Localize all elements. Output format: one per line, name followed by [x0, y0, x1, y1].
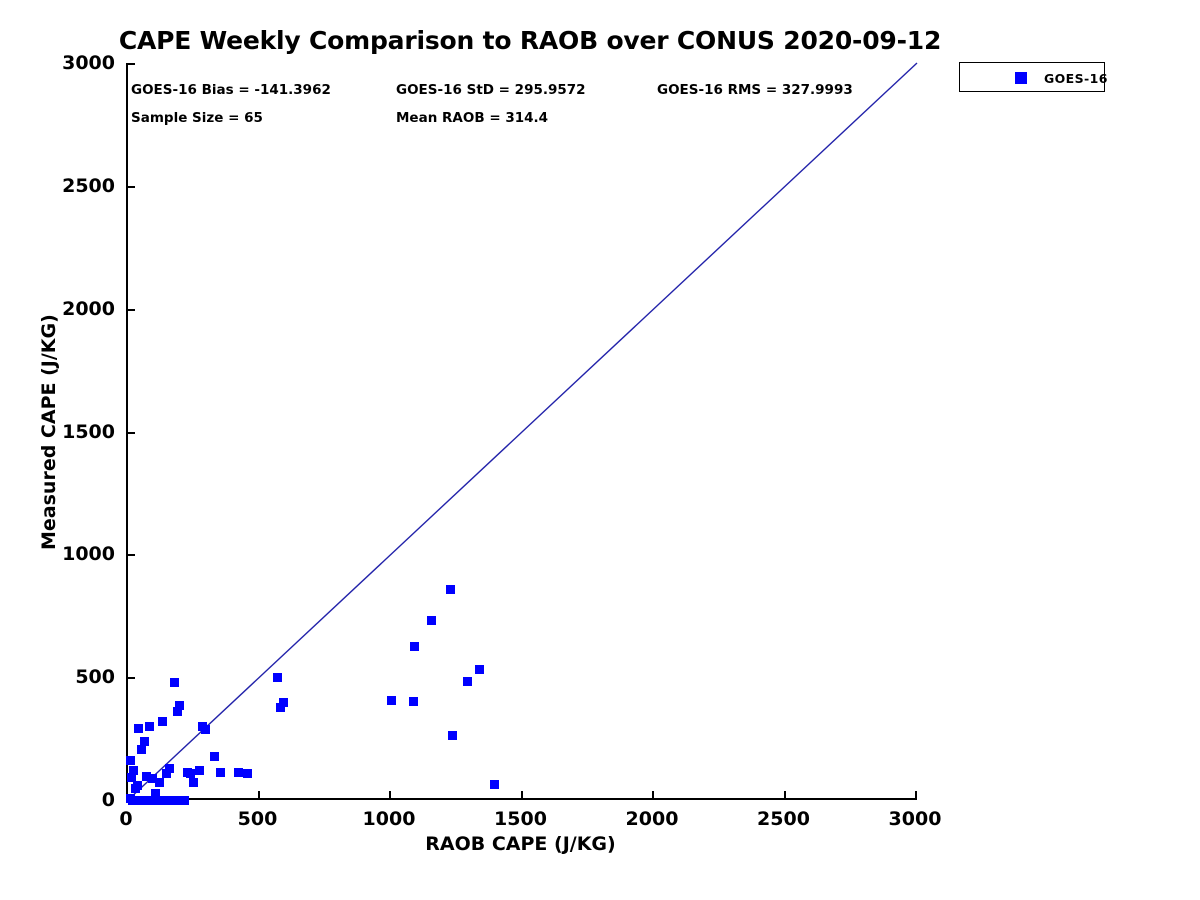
y-tick-label: 1000 — [5, 543, 115, 565]
data-point — [475, 665, 484, 674]
data-point — [490, 780, 499, 789]
data-point — [126, 756, 135, 765]
plot-area — [126, 63, 915, 800]
x-tick-mark — [915, 791, 917, 800]
one-to-one-reference-line — [128, 63, 917, 800]
data-point — [409, 697, 418, 706]
data-point — [170, 678, 179, 687]
data-point — [216, 768, 225, 777]
y-tick-label: 2500 — [5, 175, 115, 197]
data-point — [273, 673, 282, 682]
data-point — [155, 778, 164, 787]
data-point — [165, 764, 174, 773]
y-tick-label: 0 — [5, 789, 115, 811]
data-point — [134, 724, 143, 733]
x-tick-label: 1500 — [494, 808, 547, 830]
data-point — [129, 766, 138, 775]
y-tick-label: 1500 — [5, 421, 115, 443]
data-point — [137, 745, 146, 754]
data-point — [145, 722, 154, 731]
x-tick-label: 500 — [238, 808, 278, 830]
data-point — [180, 796, 189, 805]
data-point — [234, 768, 243, 777]
data-point — [189, 778, 198, 787]
data-point — [175, 701, 184, 710]
x-tick-label: 2500 — [757, 808, 810, 830]
data-point — [243, 769, 252, 778]
data-point — [463, 677, 472, 686]
data-point — [133, 781, 142, 790]
scatter-plot-figure: CAPE Weekly Comparison to RAOB over CONU… — [0, 0, 1200, 900]
data-point — [279, 698, 288, 707]
data-point — [387, 696, 396, 705]
data-point — [410, 642, 419, 651]
data-point — [210, 752, 219, 761]
data-point — [448, 731, 457, 740]
y-tick-label: 2000 — [5, 298, 115, 320]
data-point — [140, 737, 149, 746]
data-point — [446, 585, 455, 594]
legend-swatch-goes-16 — [1015, 72, 1027, 84]
data-point — [158, 717, 167, 726]
x-tick-label: 1000 — [363, 808, 416, 830]
x-tick-label: 2000 — [626, 808, 679, 830]
legend-label-goes-16: GOES-16 — [1044, 71, 1108, 86]
data-point — [201, 725, 210, 734]
y-tick-label: 3000 — [5, 52, 115, 74]
y-tick-label: 500 — [5, 666, 115, 688]
chart-title: CAPE Weekly Comparison to RAOB over CONU… — [0, 26, 1060, 55]
data-point — [195, 766, 204, 775]
x-axis-title: RAOB CAPE (J/KG) — [126, 833, 915, 855]
x-tick-label: 0 — [119, 808, 132, 830]
legend: GOES-16 — [959, 62, 1105, 92]
data-point — [427, 616, 436, 625]
x-tick-label: 3000 — [889, 808, 942, 830]
